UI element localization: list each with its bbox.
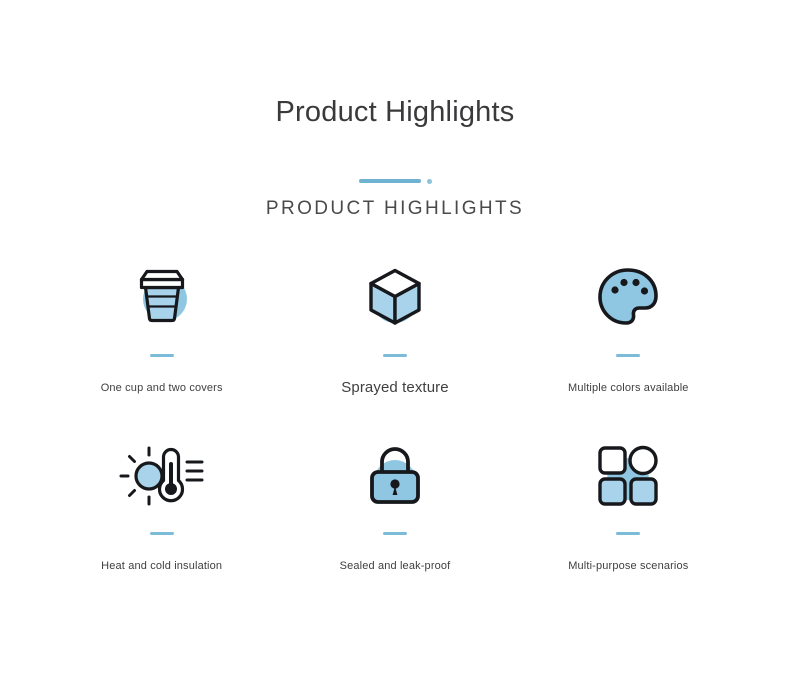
feature-label: One cup and two covers (101, 381, 223, 395)
feature-rule (150, 532, 174, 535)
feature-item: One cup and two covers (45, 262, 278, 440)
page-header: Product Highlights PRODUCT HIGHLIGHTS (0, 92, 790, 132)
grid-scenarios-icon (585, 440, 671, 512)
coffee-cup-icon (119, 262, 205, 334)
feature-label: Sprayed texture (341, 381, 448, 395)
cube-box-icon (352, 262, 438, 334)
thermometer-sun-icon (119, 440, 205, 512)
feature-rule (150, 354, 174, 357)
feature-rule (616, 354, 640, 357)
feature-item: Multi-purpose scenarios (512, 440, 745, 618)
page-subtitle: PRODUCT HIGHLIGHTS (0, 198, 790, 220)
feature-grid: One cup and two covers Sprayed texture (45, 262, 745, 618)
feature-item: Sprayed texture (278, 262, 511, 440)
feature-rule (383, 354, 407, 357)
divider-line-icon (359, 179, 421, 183)
feature-item: Heat and cold insulation (45, 440, 278, 618)
feature-item: Sealed and leak-proof (278, 440, 511, 618)
feature-item: Multiple colors available (512, 262, 745, 440)
feature-rule (383, 532, 407, 535)
title-divider (0, 176, 790, 186)
feature-rule (616, 532, 640, 535)
paint-palette-icon (585, 262, 671, 334)
feature-label: Heat and cold insulation (101, 559, 222, 573)
feature-label: Multi-purpose scenarios (568, 559, 688, 573)
divider-dot-icon (427, 179, 432, 184)
product-highlights-page: Product Highlights PRODUCT HIGHLIGHTS (0, 0, 790, 692)
feature-label: Multiple colors available (568, 381, 689, 395)
page-title: Product Highlights (0, 92, 790, 132)
padlock-icon (352, 440, 438, 512)
feature-label: Sealed and leak-proof (340, 559, 451, 573)
